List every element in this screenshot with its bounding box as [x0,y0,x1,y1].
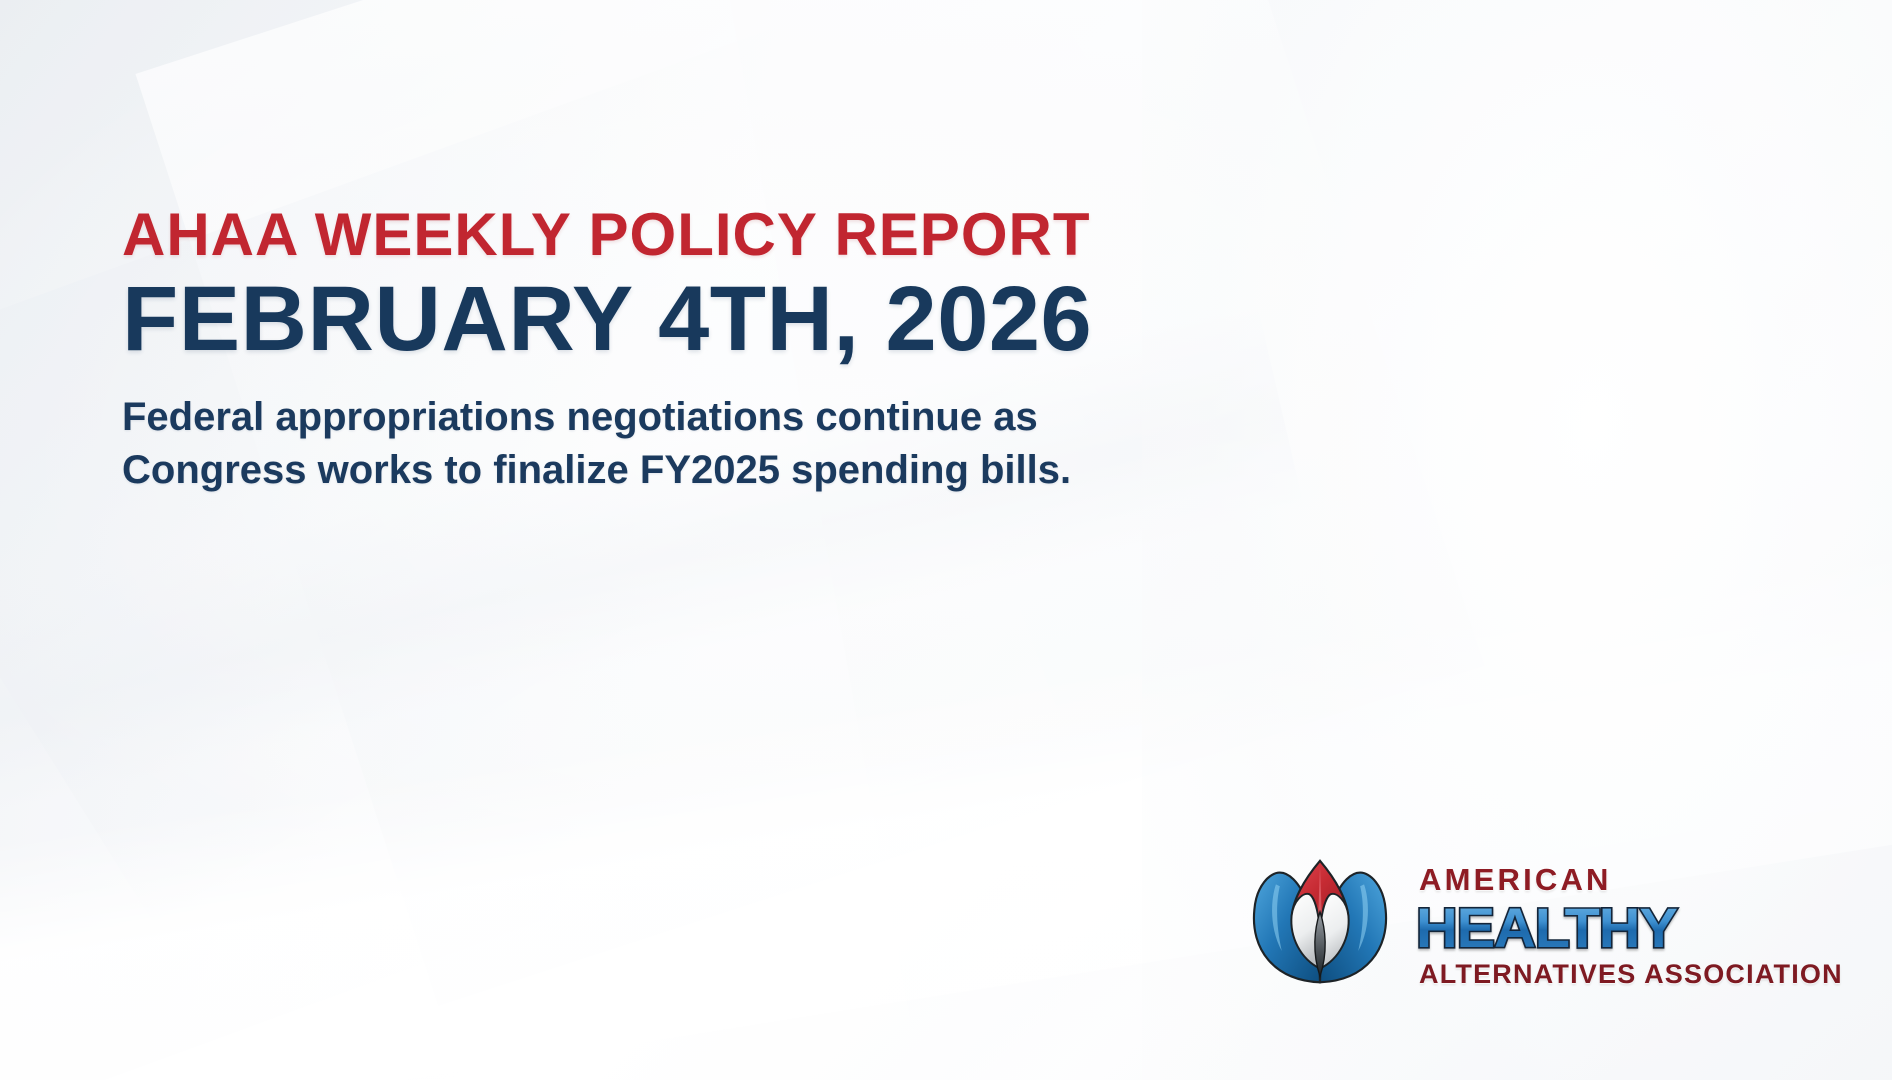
report-summary: Federal appropriations negotiations cont… [122,391,1182,497]
logo-line-healthy: HEALTHY [1414,897,1843,959]
logo-healthy-graphic: HEALTHY [1414,897,1744,959]
report-kicker: AHAA WEEKLY POLICY REPORT [122,205,1322,265]
logo-line-alternatives-association: ALTERNATIVES ASSOCIATION [1419,961,1843,988]
policy-report-slide: AHAA WEEKLY POLICY REPORT FEBRUARY 4TH, … [0,0,1892,1080]
lotus-flower-logo-mark [1246,853,1394,998]
logo-wordmark: AMERICAN HEALTHY ALTERNATIVES ASSOCIATIO… [1416,864,1843,988]
organization-logo: AMERICAN HEALTHY ALTERNATIVES ASSOCIATIO… [1246,853,1843,998]
logo-line-american: AMERICAN [1419,864,1843,895]
svg-text:HEALTHY: HEALTHY [1416,897,1677,958]
report-date-headline: FEBRUARY 4TH, 2026 [122,273,1322,365]
headline-block: AHAA WEEKLY POLICY REPORT FEBRUARY 4TH, … [122,205,1322,497]
